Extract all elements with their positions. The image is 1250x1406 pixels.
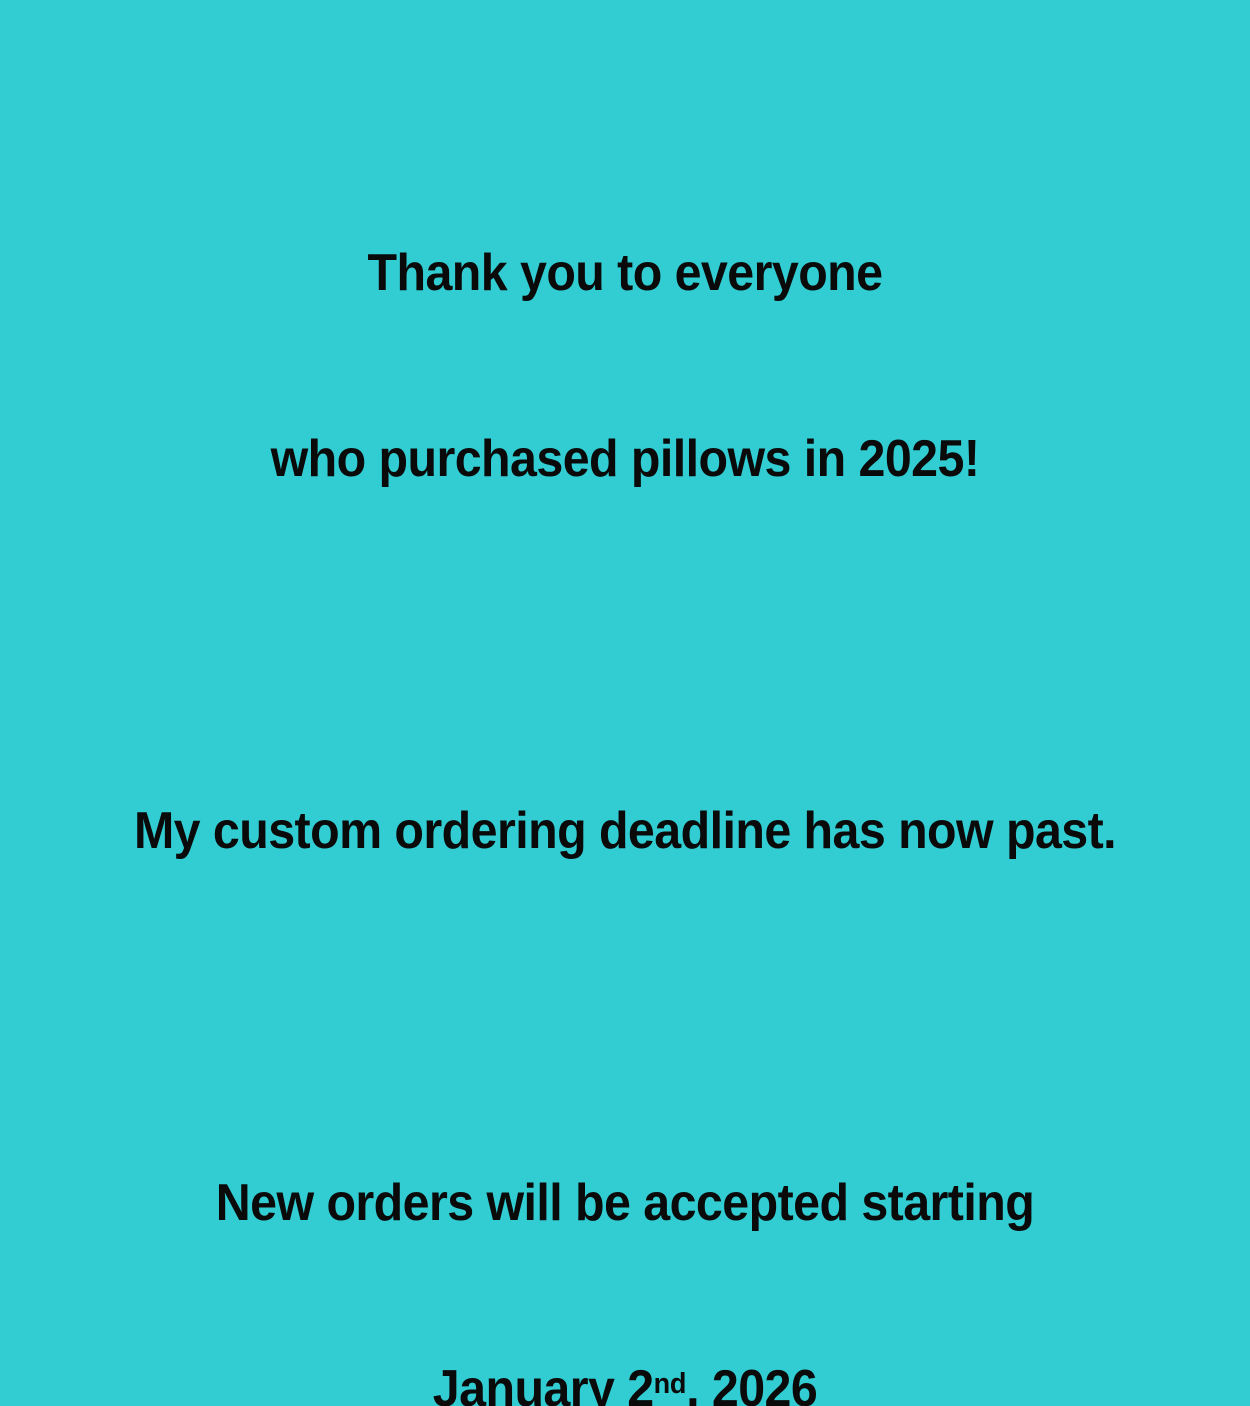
date-ordinal-suffix: nd <box>654 1368 687 1400</box>
new-orders-line-1: New orders will be accepted starting <box>44 1172 1207 1234</box>
date-year-part: , 2026 <box>686 1360 817 1406</box>
paragraph-deadline: My custom ordering deadline has now past… <box>44 676 1207 986</box>
message-body: Thank you to everyone who purchased pill… <box>0 118 1250 1406</box>
paragraph-spacer-2 <box>0 986 1250 1048</box>
deadline-line-1: My custom ordering deadline has now past… <box>44 800 1207 862</box>
thanks-line-2: who purchased pillows in 2025! <box>44 428 1207 490</box>
paragraph-new-orders: New orders will be accepted starting Jan… <box>44 1048 1207 1406</box>
thanks-line-1: Thank you to everyone <box>44 242 1207 304</box>
paragraph-spacer-1 <box>0 614 1250 676</box>
date-month-day: January 2 <box>433 1360 654 1406</box>
announcement-slide: Thank you to everyone who purchased pill… <box>0 0 1250 703</box>
new-orders-date-line: January 2nd, 2026 <box>44 1358 1207 1406</box>
paragraph-thanks: Thank you to everyone who purchased pill… <box>44 118 1207 614</box>
